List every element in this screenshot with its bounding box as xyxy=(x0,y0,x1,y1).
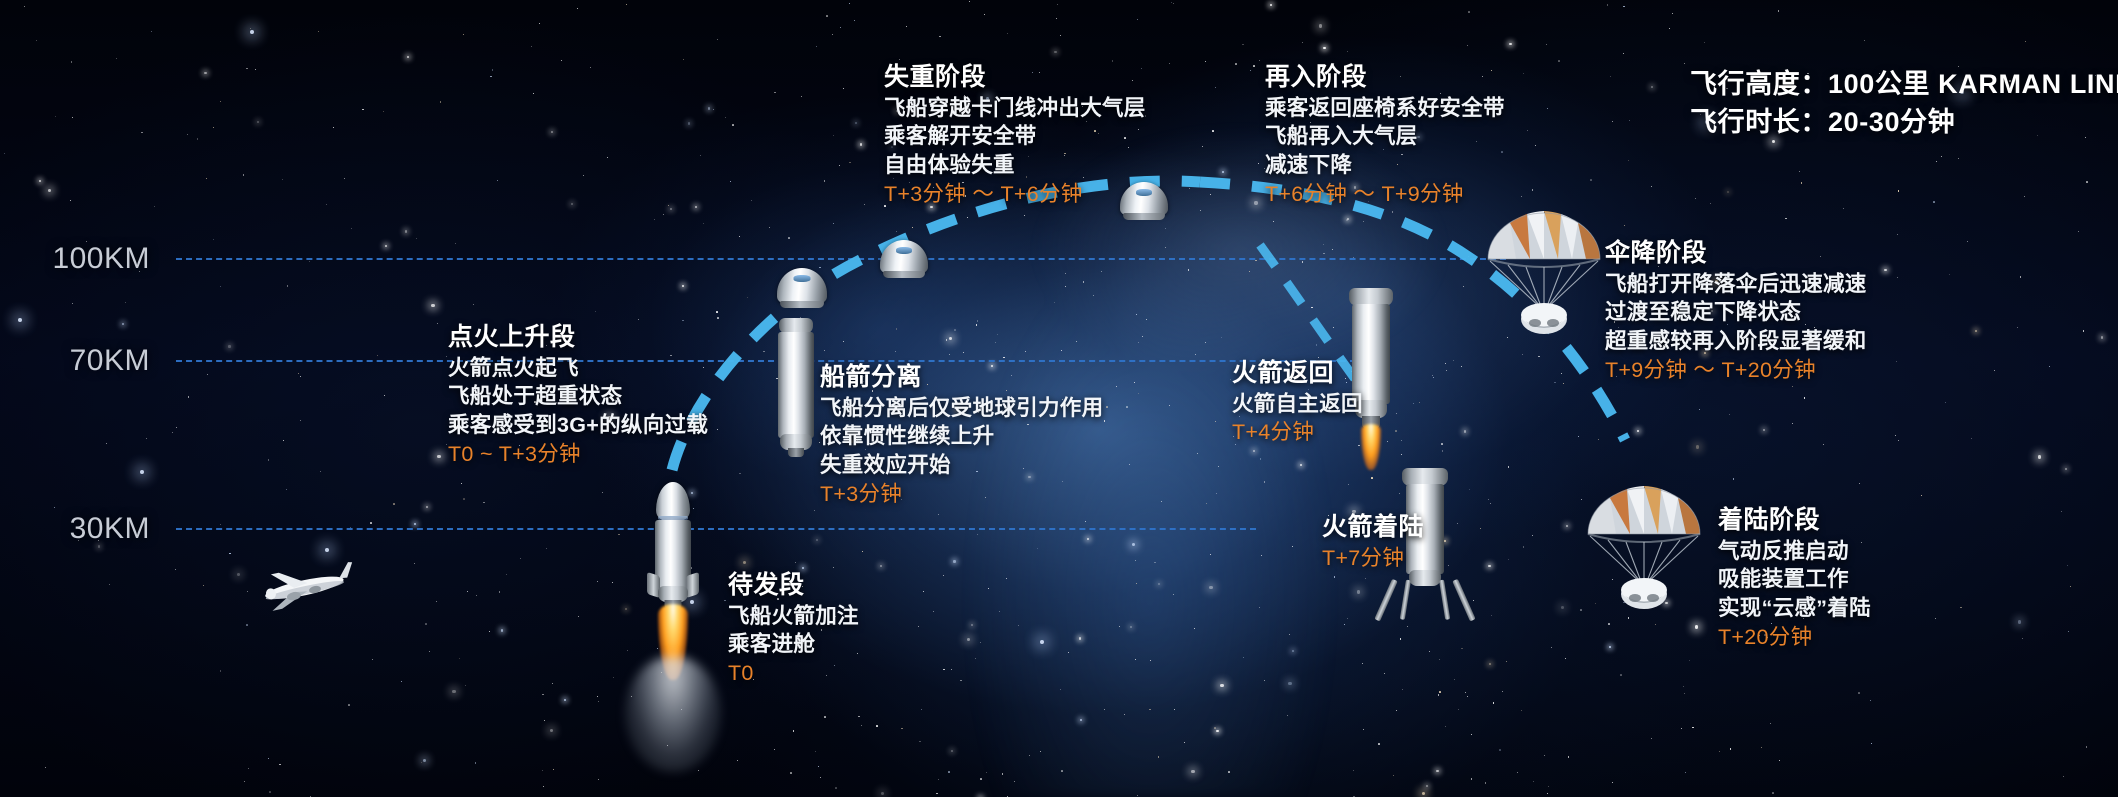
stage-block-landing: 着陆阶段 气动反推启动 吸能装置工作 实现“云感”着陆 T+20分钟 xyxy=(1718,505,1871,653)
stage-time-rocket-return: T+4分钟 xyxy=(1232,418,1363,448)
stage-time-separation: T+3分钟 xyxy=(820,480,1103,510)
airplane-icon xyxy=(248,558,358,614)
stage-line-separation-1: 飞船分离后仅受地球引力作用 xyxy=(820,394,1103,423)
altitude-gridline-100km xyxy=(176,258,1506,260)
stage-line-separation-2: 依靠惯性继续上升 xyxy=(820,422,1103,451)
rocket-exhaust-plume xyxy=(645,604,701,774)
stage-title-ignition-ascent: 点火上升段 xyxy=(448,322,708,354)
stage-line-landing-2: 吸能装置工作 xyxy=(1718,565,1871,594)
stage-title-separation: 船箭分离 xyxy=(820,362,1103,394)
altitude-gridline-70km xyxy=(176,360,1356,362)
parachute-landing xyxy=(1580,480,1708,610)
stage-block-ignition-ascent: 点火上升段 火箭点火起飞 飞船处于超重状态 乘客感受到3G+的纵向过载 T0 ~… xyxy=(448,322,708,470)
stage-title-weightless: 失重阶段 xyxy=(884,62,1146,94)
stage-line-ignition-2: 飞船处于超重状态 xyxy=(448,382,708,411)
stage-time-landing: T+20分钟 xyxy=(1718,623,1871,653)
stage-block-reentry: 再入阶段 乘客返回座椅系好安全带 飞船再入大气层 减速下降 T+6分钟 ～ T+… xyxy=(1265,62,1505,210)
stage-line-parachute-3: 超重感较再入阶段显著缓和 xyxy=(1605,327,1867,356)
capsule-ascending xyxy=(878,240,930,282)
altitude-row-100km: 100KM xyxy=(0,242,1506,276)
capsule-separation xyxy=(775,268,829,312)
infographic-canvas: 100KM 70KM 30KM 飞行高度：100公里 KARMAN LINE 飞… xyxy=(0,0,2118,797)
stage-block-separation: 船箭分离 飞船分离后仅受地球引力作用 依靠惯性继续上升 失重效应开始 T+3分钟 xyxy=(820,362,1103,510)
stage-title-landing: 着陆阶段 xyxy=(1718,505,1871,537)
stage-time-parachute: T+9分钟 ～ T+20分钟 xyxy=(1605,356,1867,386)
stage-line-ignition-1: 火箭点火起飞 xyxy=(448,354,708,383)
stage-line-standby-1: 飞船火箭加注 xyxy=(728,602,859,631)
stage-line-weightless-3: 自由体验失重 xyxy=(884,151,1146,180)
stage-line-reentry-1: 乘客返回座椅系好安全带 xyxy=(1265,94,1505,123)
stage-line-landing-1: 气动反推启动 xyxy=(1718,537,1871,566)
stage-line-parachute-2: 过渡至稳定下降状态 xyxy=(1605,298,1867,327)
stage-title-rocket-return: 火箭返回 xyxy=(1232,358,1363,390)
stage-line-reentry-3: 减速下降 xyxy=(1265,151,1505,180)
altitude-label-100km: 100KM xyxy=(0,242,150,276)
flight-duration-text: 飞行时长：20-30分钟 xyxy=(1690,103,2118,141)
stage-line-landing-3: 实现“云感”着陆 xyxy=(1718,594,1871,623)
altitude-row-30km: 30KM xyxy=(0,512,1256,546)
stage-time-ignition-ascent: T0 ~ T+3分钟 xyxy=(448,440,708,470)
stage-block-standby: 待发段 飞船火箭加注 乘客进舱 T0 xyxy=(728,570,859,689)
stage-time-weightless: T+3分钟 ～ T+6分钟 xyxy=(884,180,1146,210)
stage-title-standby: 待发段 xyxy=(728,570,859,602)
stage-time-standby: T0 xyxy=(728,659,859,689)
stage-line-reentry-2: 飞船再入大气层 xyxy=(1265,122,1505,151)
stage-title-parachute: 伞降阶段 xyxy=(1605,238,1867,270)
stage-line-standby-2: 乘客进舱 xyxy=(728,630,859,659)
stage-time-rocket-landing: T+7分钟 xyxy=(1322,544,1424,574)
stage-title-reentry: 再入阶段 xyxy=(1265,62,1505,94)
stage-line-parachute-1: 飞船打开降落伞后迅速减速 xyxy=(1605,270,1867,299)
parachute-descent xyxy=(1480,205,1608,335)
stage-line-ignition-3: 乘客感受到3G+的纵向过载 xyxy=(448,411,708,440)
header-summary: 飞行高度：100公里 KARMAN LINE 飞行时长：20-30分钟 xyxy=(1690,65,2118,142)
stage-block-rocket-return: 火箭返回 火箭自主返回 T+4分钟 xyxy=(1232,358,1363,448)
stage-block-rocket-landing: 火箭着陆 T+7分钟 xyxy=(1322,512,1424,573)
stage-line-separation-3: 失重效应开始 xyxy=(820,451,1103,480)
altitude-label-70km: 70KM xyxy=(0,344,150,378)
rocket-launch xyxy=(645,482,701,612)
stage-title-rocket-landing: 火箭着陆 xyxy=(1322,512,1424,544)
stage-block-parachute: 伞降阶段 飞船打开降落伞后迅速减速 过渡至稳定下降状态 超重感较再入阶段显著缓和… xyxy=(1605,238,1867,386)
stage-line-rocket-return-1: 火箭自主返回 xyxy=(1232,390,1363,419)
altitude-label-30km: 30KM xyxy=(0,512,150,546)
stage-line-weightless-1: 飞船穿越卡门线冲出大气层 xyxy=(884,94,1146,123)
stage-time-reentry: T+6分钟 ～ T+9分钟 xyxy=(1265,180,1505,210)
stage-block-weightless: 失重阶段 飞船穿越卡门线冲出大气层 乘客解开安全带 自由体验失重 T+3分钟 ～… xyxy=(884,62,1146,210)
stage-line-weightless-2: 乘客解开安全带 xyxy=(884,122,1146,151)
flight-altitude-text: 飞行高度：100公里 KARMAN LINE xyxy=(1690,65,2118,103)
altitude-gridline-30km xyxy=(176,528,1256,530)
rocket-booster-separated xyxy=(770,318,822,460)
